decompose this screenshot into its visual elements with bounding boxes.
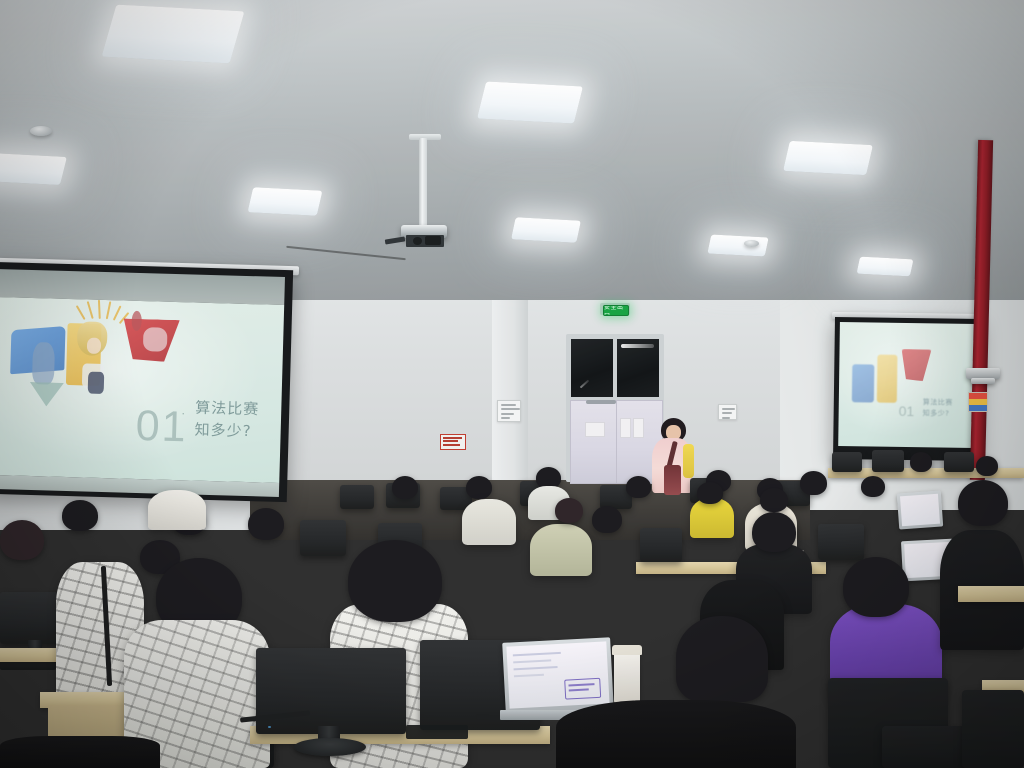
slide-title-line1-right: 算法比赛 [923,397,953,407]
student-head [676,616,768,702]
slide-art-red-highlight [143,327,168,352]
student-head [466,476,492,499]
door-notice-paper [585,422,605,437]
door-push-bar[interactable] [586,400,616,404]
ceiling-light-panel [0,153,67,185]
ceiling-light-panel [248,187,323,216]
student-head [752,512,796,552]
chair-back[interactable] [962,690,1024,768]
student-head [555,498,583,523]
projection-screen-right[interactable]: 01 算法比赛 知多少? [833,317,981,461]
ceiling-light-panel [856,257,913,277]
standpipe-label-sticker [968,392,988,412]
student-head [843,557,909,617]
standpipe-flange [971,378,995,384]
monitor [256,648,406,734]
door-window-left [571,339,613,397]
student-head [348,540,442,622]
slide-number-dot: · [181,406,186,419]
student-head [958,480,1008,526]
student-head [910,452,932,472]
laptop[interactable] [897,491,943,530]
student-head [0,520,44,560]
laptop-screen [506,641,609,708]
monitor [944,452,974,472]
foreground-student-silhouette [0,736,160,768]
student-head [697,482,723,504]
monitor [818,524,864,560]
monitor-base [294,738,366,756]
slide-title-line2: 知多少? [194,422,251,441]
monitor [640,528,682,562]
ceiling-light-panel [707,234,768,256]
fire-safety-sign [440,434,466,450]
student-head [861,476,885,497]
student-head [976,456,998,476]
slide-art-face [87,338,101,354]
slide-art-blue-figure [32,342,55,385]
student-body-white [462,499,516,545]
exit-sign: 安全出口 [603,305,629,316]
monitor [832,452,862,472]
slide-title-line2-right: 知多少? [923,408,950,418]
student-head [392,476,418,499]
smoke-detector-icon [30,126,52,136]
student-head [62,500,98,531]
projector-lens-icon [413,237,422,245]
exit-sign-label: 安全出口 [604,305,628,316]
student-head [800,471,827,495]
slide-art-yellow-panel-right [877,355,898,403]
student-head [592,506,622,533]
projector-vent [425,236,441,245]
laptop-open[interactable] [502,637,614,715]
foreground-student-silhouette [556,700,796,768]
slide-art-blue-panel-right [852,364,875,402]
student-body-olive [530,524,592,576]
ceiling-light-panel [102,5,245,64]
door-notice-paper [620,418,631,438]
slide-surface-right: 01 算法比赛 知多少? [838,322,976,448]
smoke-detector-icon [744,240,759,247]
student-head [760,488,788,512]
slide-surface: 01 · 算法比赛 知多少? [0,297,284,483]
classroom-photo: 01 · 算法比赛 知多少? 01 算法比赛 知多少? [0,0,1024,768]
window-light-reflection [621,344,654,348]
ceiling-light-panel [783,141,873,175]
desk [958,586,1024,602]
mousepad [406,725,468,739]
monitor-power-led [268,726,271,728]
slide-title-line1: 算法比赛 [195,400,259,419]
wall-placard-left [497,400,521,422]
door-notice-paper [633,418,644,438]
student-head [248,508,284,540]
student-body-yellow-shirt [690,498,734,538]
student-head [626,476,651,498]
presenter-sleeve-yellow [683,444,694,478]
student-body-white [148,490,206,530]
projection-screen-left[interactable]: 01 · 算法比赛 知多少? [0,262,293,502]
thermos-tumbler [614,652,640,704]
wall-placard-right [718,404,737,420]
slide-art-dark-shape [88,372,105,394]
presenter-bag [664,465,681,495]
tumbler-lid [612,645,642,655]
ceiling-light-panel [477,81,583,123]
door-leaf-left[interactable] [570,400,617,484]
laptop-screen [900,494,940,527]
monitor [872,450,904,472]
monitor [300,520,346,556]
ceiling-light-panel [511,217,581,242]
projector-mount-rod [419,138,427,228]
monitor [340,485,374,509]
slide-section-number-right: 01 [899,403,915,419]
